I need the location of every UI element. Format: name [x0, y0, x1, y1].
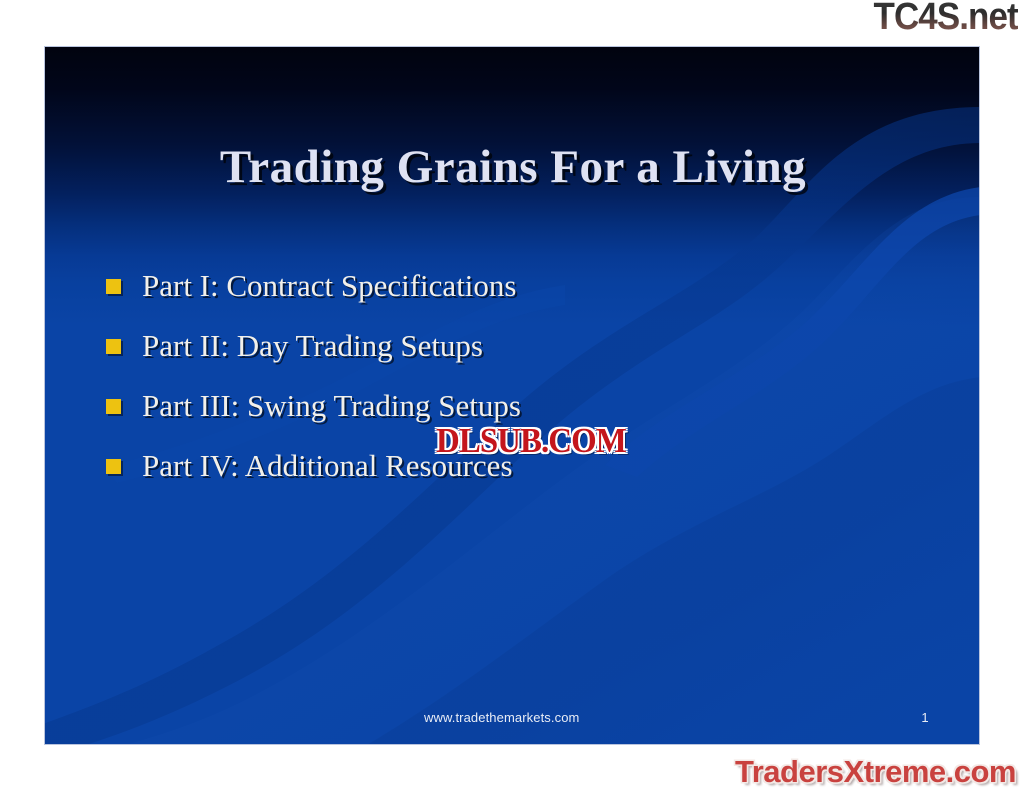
list-item: Part I: Contract Specifications — [106, 256, 956, 316]
square-bullet-icon — [106, 459, 121, 474]
tc4s-brand-logo: TC4S.net — [874, 0, 1018, 36]
dlsub-watermark: DLSUB.COM — [436, 423, 626, 458]
bullet-list: Part I: Contract Specifications Part II:… — [106, 256, 956, 496]
page-number: 1 — [913, 710, 937, 725]
slide-page: TC4S.net — [0, 0, 1024, 791]
bullet-label-part-2: Part II: Day Trading Setups — [142, 330, 483, 363]
square-bullet-icon — [106, 279, 121, 294]
bullet-label-part-1: Part I: Contract Specifications — [142, 270, 516, 303]
footer-url: www.tradethemarkets.com — [424, 710, 579, 725]
presentation-slide: Trading Grains For a Living Part I: Cont… — [44, 46, 980, 745]
slide-title: Trading Grains For a Living — [45, 143, 980, 193]
bullet-label-part-3: Part III: Swing Trading Setups — [142, 390, 521, 423]
list-item: Part II: Day Trading Setups — [106, 316, 956, 376]
square-bullet-icon — [106, 399, 121, 414]
square-bullet-icon — [106, 339, 121, 354]
tradersxtreme-brand-logo: TradersXtreme.com — [735, 756, 1016, 787]
